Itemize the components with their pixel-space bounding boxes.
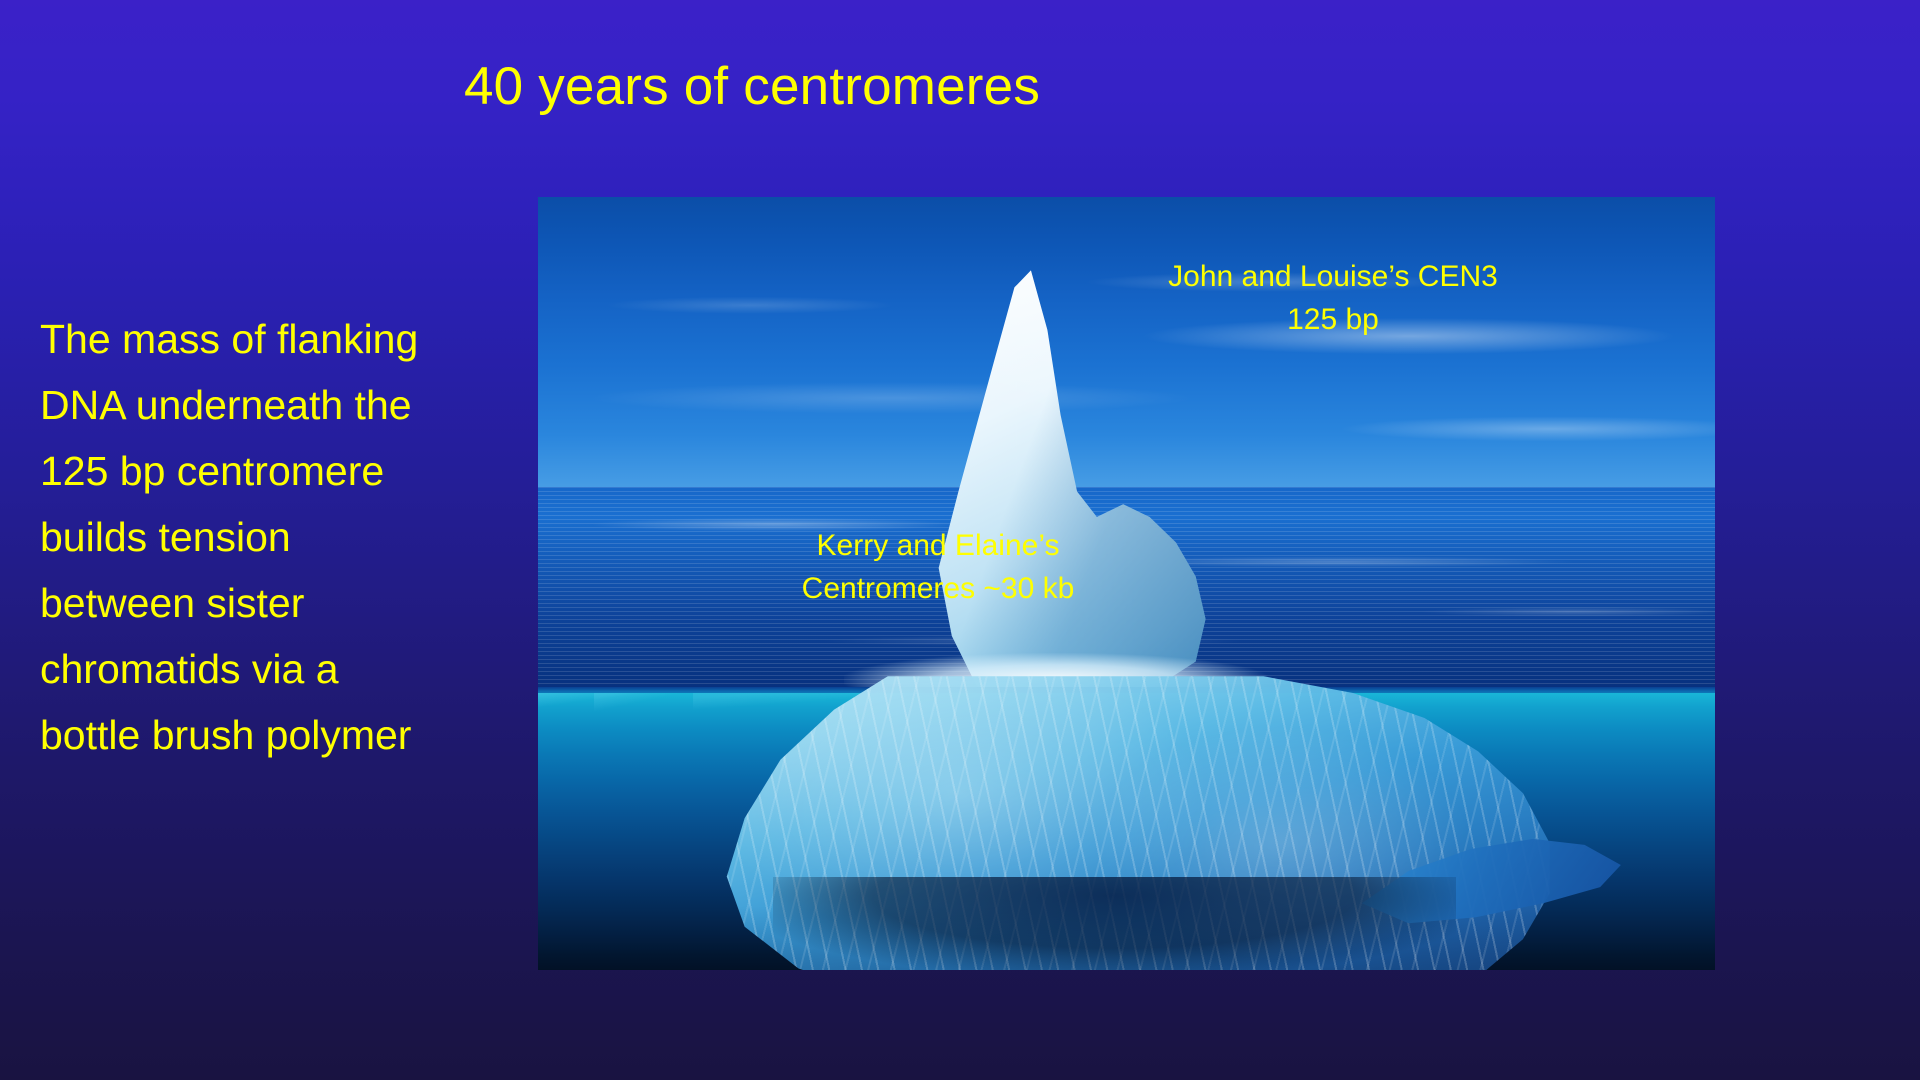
label-below-water: Kerry and Elaine’s Centromeres ~30 kb: [728, 524, 1148, 610]
body-line-3: 125 bp centromere: [40, 438, 560, 504]
label-above-water: John and Louise’s CEN3 125 bp: [1098, 255, 1568, 341]
slide-title: 40 years of centromeres: [0, 58, 1712, 116]
body-line-7: bottle brush polymer: [40, 702, 560, 768]
label-above-water-line2: 125 bp: [1098, 298, 1568, 341]
body-line-2: DNA underneath the: [40, 372, 560, 438]
body-line-1: The mass of flanking: [40, 306, 560, 372]
iceberg-image: John and Louise’s CEN3 125 bp Kerry and …: [538, 197, 1715, 970]
slide-body-text: The mass of flanking DNA underneath the …: [40, 306, 560, 768]
body-line-5: between sister: [40, 570, 560, 636]
presentation-slide: 40 years of centromeres The mass of flan…: [0, 0, 1920, 1080]
label-below-water-line2: Centromeres ~30 kb: [728, 567, 1148, 610]
label-above-water-line1: John and Louise’s CEN3: [1168, 260, 1498, 293]
body-line-4: builds tension: [40, 504, 560, 570]
body-line-6: chromatids via a: [40, 636, 560, 702]
label-below-water-line1: Kerry and Elaine’s: [817, 529, 1060, 562]
iceberg-deep-shadow: [773, 877, 1456, 970]
